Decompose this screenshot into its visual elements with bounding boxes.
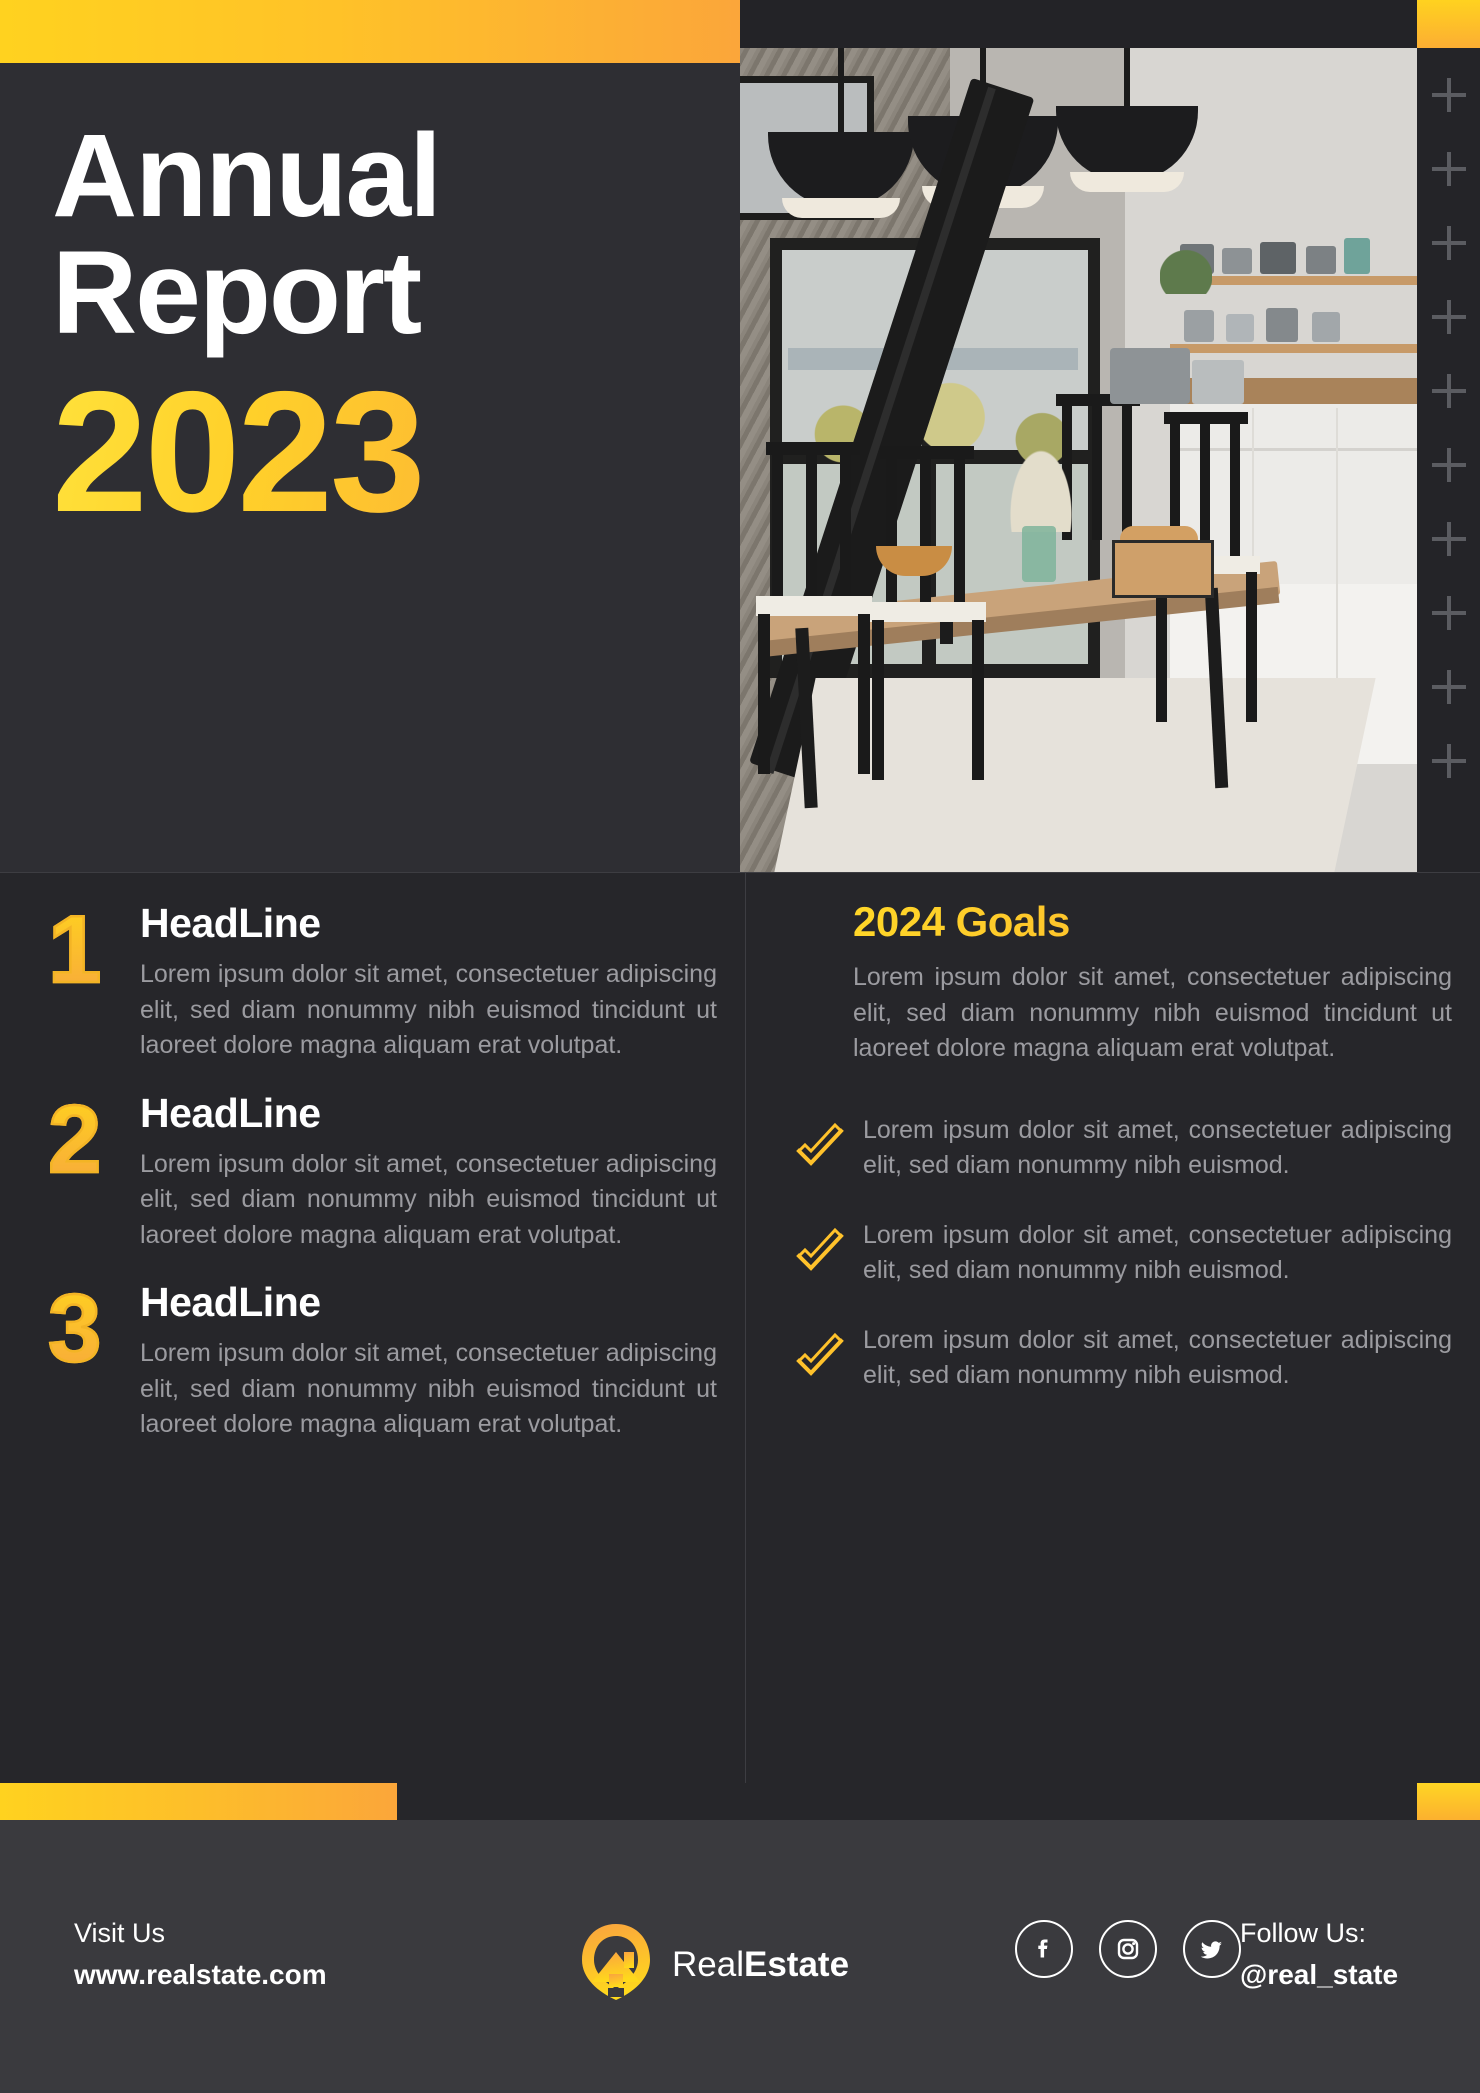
- social-handle[interactable]: @real_state: [1240, 1959, 1398, 1991]
- twitter-icon[interactable]: [1183, 1920, 1241, 1978]
- brand-name-second: Estate: [744, 1945, 849, 1984]
- title-line-2: Report: [52, 235, 712, 352]
- headline-item: 1 HeadLine Lorem ipsum dolor sit amet, c…: [0, 900, 745, 1064]
- headline-item: 2 HeadLine Lorem ipsum dolor sit amet, c…: [0, 1090, 745, 1254]
- item-heading: HeadLine: [140, 900, 745, 947]
- top-dark-strip: [740, 0, 1417, 48]
- item-body: Lorem ipsum dolor sit amet, consectetuer…: [140, 957, 745, 1064]
- bottom-mid-strip: [397, 1783, 1417, 1820]
- plus-icon: [1432, 448, 1466, 482]
- goals-intro: Lorem ipsum dolor sit amet, consectetuer…: [853, 960, 1452, 1067]
- plus-icon: [1432, 596, 1466, 630]
- goals-heading: 2024 Goals: [853, 898, 1452, 946]
- content-section: 1 HeadLine Lorem ipsum dolor sit amet, c…: [0, 872, 1480, 1783]
- annual-report-poster: Annual Report 2023: [0, 0, 1480, 2093]
- goal-item: Lorem ipsum dolor sit amet, consectetuer…: [745, 1323, 1480, 1394]
- left-column: 1 HeadLine Lorem ipsum dolor sit amet, c…: [0, 872, 745, 1811]
- plus-icon: [1432, 78, 1466, 112]
- facebook-icon[interactable]: [1015, 1920, 1073, 1978]
- social-links: [1015, 1920, 1241, 1978]
- brand-block: RealEstate: [578, 1922, 849, 2007]
- item-heading: HeadLine: [140, 1279, 745, 1326]
- title-line-1: Annual: [52, 118, 712, 235]
- realestate-house-logo: [578, 1922, 654, 2007]
- goal-text: Lorem ipsum dolor sit amet, consectetuer…: [863, 1323, 1480, 1394]
- bottom-accent-bar-left: [0, 1783, 397, 1820]
- item-number: 1: [48, 902, 101, 998]
- headline-item: 3 HeadLine Lorem ipsum dolor sit amet, c…: [0, 1279, 745, 1443]
- follow-us-label: Follow Us:: [1240, 1918, 1398, 1949]
- instagram-icon[interactable]: [1099, 1920, 1157, 1978]
- item-body: Lorem ipsum dolor sit amet, consectetuer…: [140, 1336, 745, 1443]
- plus-pattern-column: [1417, 48, 1480, 872]
- item-number: 3: [48, 1281, 101, 1377]
- right-column: 2024 Goals Lorem ipsum dolor sit amet, c…: [745, 872, 1480, 1809]
- website-link[interactable]: www.realstate.com: [74, 1959, 327, 1991]
- plus-icon: [1432, 744, 1466, 778]
- check-icon: [793, 1226, 847, 1280]
- plus-icon: [1432, 670, 1466, 704]
- poster-title: Annual Report 2023: [52, 118, 712, 538]
- check-icon: [793, 1331, 847, 1385]
- top-accent-bar-left: [0, 0, 740, 63]
- item-number: 2: [48, 1092, 101, 1188]
- plus-icon: [1432, 300, 1466, 334]
- item-body: Lorem ipsum dolor sit amet, consectetuer…: [140, 1147, 745, 1254]
- plus-icon: [1432, 152, 1466, 186]
- visit-us-block: Visit Us www.realstate.com: [74, 1918, 327, 1991]
- brand-name-first: Real: [672, 1945, 744, 1984]
- plus-icon: [1432, 522, 1466, 556]
- plus-icon: [1432, 226, 1466, 260]
- title-year: 2023: [52, 366, 712, 538]
- goal-text: Lorem ipsum dolor sit amet, consectetuer…: [863, 1113, 1480, 1184]
- bottom-accent-bar-right: [1417, 1783, 1480, 1820]
- hero-section: Annual Report 2023: [0, 63, 1480, 872]
- goal-item: Lorem ipsum dolor sit amet, consectetuer…: [745, 1218, 1480, 1289]
- top-accent-bar-right: [1417, 0, 1480, 48]
- check-icon: [793, 1121, 847, 1175]
- follow-us-block: Follow Us: @real_state: [1240, 1918, 1398, 1991]
- goal-item: Lorem ipsum dolor sit amet, consectetuer…: [745, 1113, 1480, 1184]
- goal-text: Lorem ipsum dolor sit amet, consectetuer…: [863, 1218, 1480, 1289]
- brand-name: RealEstate: [672, 1945, 849, 1985]
- visit-us-label: Visit Us: [74, 1918, 327, 1949]
- hero-photo: [740, 48, 1417, 872]
- item-heading: HeadLine: [140, 1090, 745, 1137]
- plus-icon: [1432, 374, 1466, 408]
